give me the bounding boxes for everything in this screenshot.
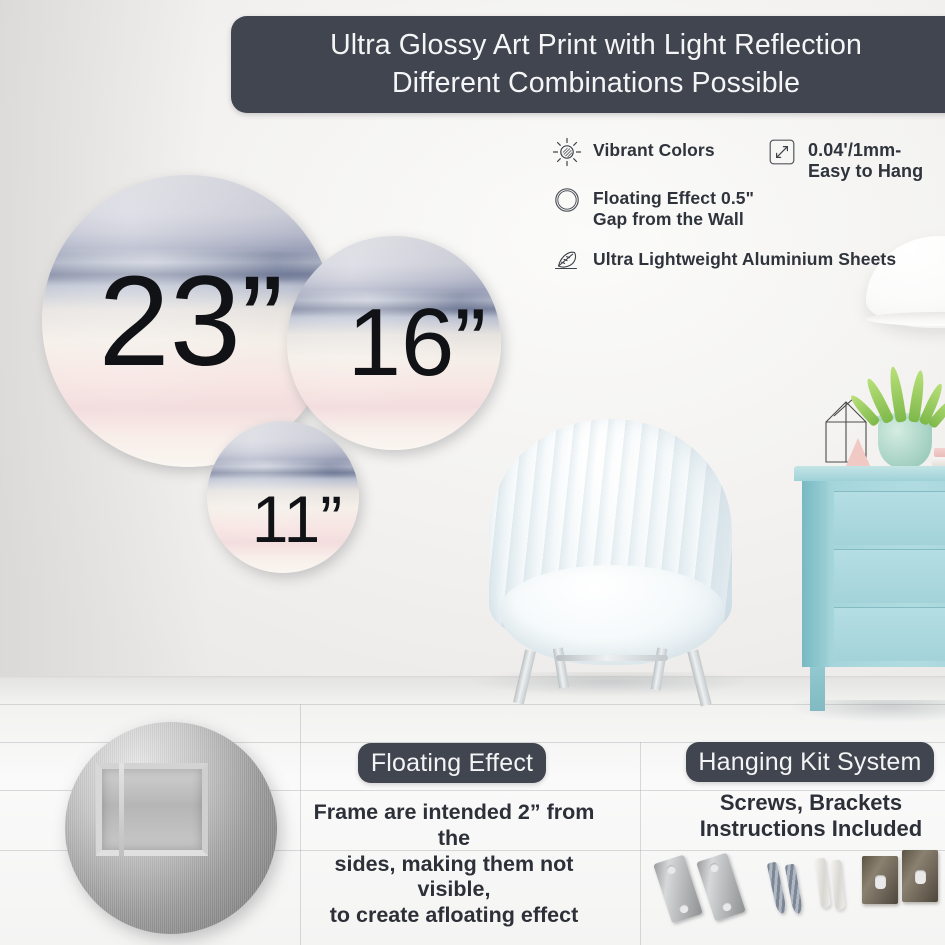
- circle-ring-icon: [551, 184, 583, 216]
- banner-title-line-1: Ultra Glossy Art Print with Light Reflec…: [330, 27, 862, 65]
- infographic-canvas: Ultra Glossy Art Print with Light Reflec…: [0, 0, 945, 945]
- description-text: Frame are intended 2” from the sides, ma…: [314, 800, 595, 927]
- feature-easy-to-hang: 0.04'/1mm- Easy to Hang: [766, 136, 923, 182]
- dresser-drawer: [834, 491, 945, 545]
- feature-label: Floating Effect 0.5" Gap from the Wall: [593, 184, 754, 229]
- dresser-drawer: [834, 607, 945, 661]
- resize-diagonal-icon: [766, 136, 798, 168]
- art-circle-11-inch[interactable]: 11”: [207, 421, 359, 573]
- armchair-seat: [500, 565, 724, 665]
- feather-icon: [551, 245, 583, 277]
- art-circle-16-inch[interactable]: 16”: [287, 236, 501, 450]
- feature-label: Ultra Lightweight Aluminium Sheets: [593, 245, 896, 270]
- feature-label: 0.04'/1mm- Easy to Hang: [808, 136, 923, 182]
- back-frame-divider: [119, 763, 124, 856]
- feature-label: Vibrant Colors: [593, 136, 715, 161]
- feature-ultra-lightweight: Ultra Lightweight Aluminium Sheets: [551, 245, 896, 277]
- pill-label: Hanging Kit System: [698, 748, 921, 777]
- dresser-top: [794, 466, 945, 481]
- feature-floating-effect: Floating Effect 0.5" Gap from the Wall: [551, 184, 754, 229]
- pill-label: Floating Effect: [371, 749, 533, 778]
- feature-vibrant-colors: Vibrant Colors: [551, 136, 715, 168]
- dresser-leg: [810, 665, 825, 711]
- dresser-drawer: [834, 549, 945, 603]
- dresser-side-panel: [802, 481, 828, 667]
- hanging-kit-pill: Hanging Kit System: [686, 742, 934, 782]
- sun-brightness-icon: [551, 136, 583, 168]
- mounting-clip-part: [862, 856, 898, 904]
- floating-effect-pill: Floating Effect: [358, 743, 546, 783]
- mounting-clip-part: [902, 850, 938, 902]
- back-frame-mount: [96, 763, 208, 856]
- size-label: 16”: [348, 288, 487, 398]
- banner-title-line-2: Different Combinations Possible: [392, 65, 800, 103]
- header-banner: Ultra Glossy Art Print with Light Reflec…: [231, 16, 945, 113]
- size-label: 23”: [99, 248, 284, 395]
- plant-pot: [878, 418, 932, 468]
- floating-effect-description: Frame are intended 2” from the sides, ma…: [300, 800, 608, 929]
- description-text: Screws, Brackets Instructions Included: [700, 790, 922, 841]
- size-label: 11”: [252, 481, 343, 557]
- hanging-kit-description: Screws, Brackets Instructions Included: [690, 790, 932, 843]
- decor-books-pink: [934, 448, 945, 457]
- floating-effect-metal-disc: [65, 722, 277, 934]
- pink-triangle-decor: [845, 438, 871, 468]
- decor-books-white: [932, 457, 945, 466]
